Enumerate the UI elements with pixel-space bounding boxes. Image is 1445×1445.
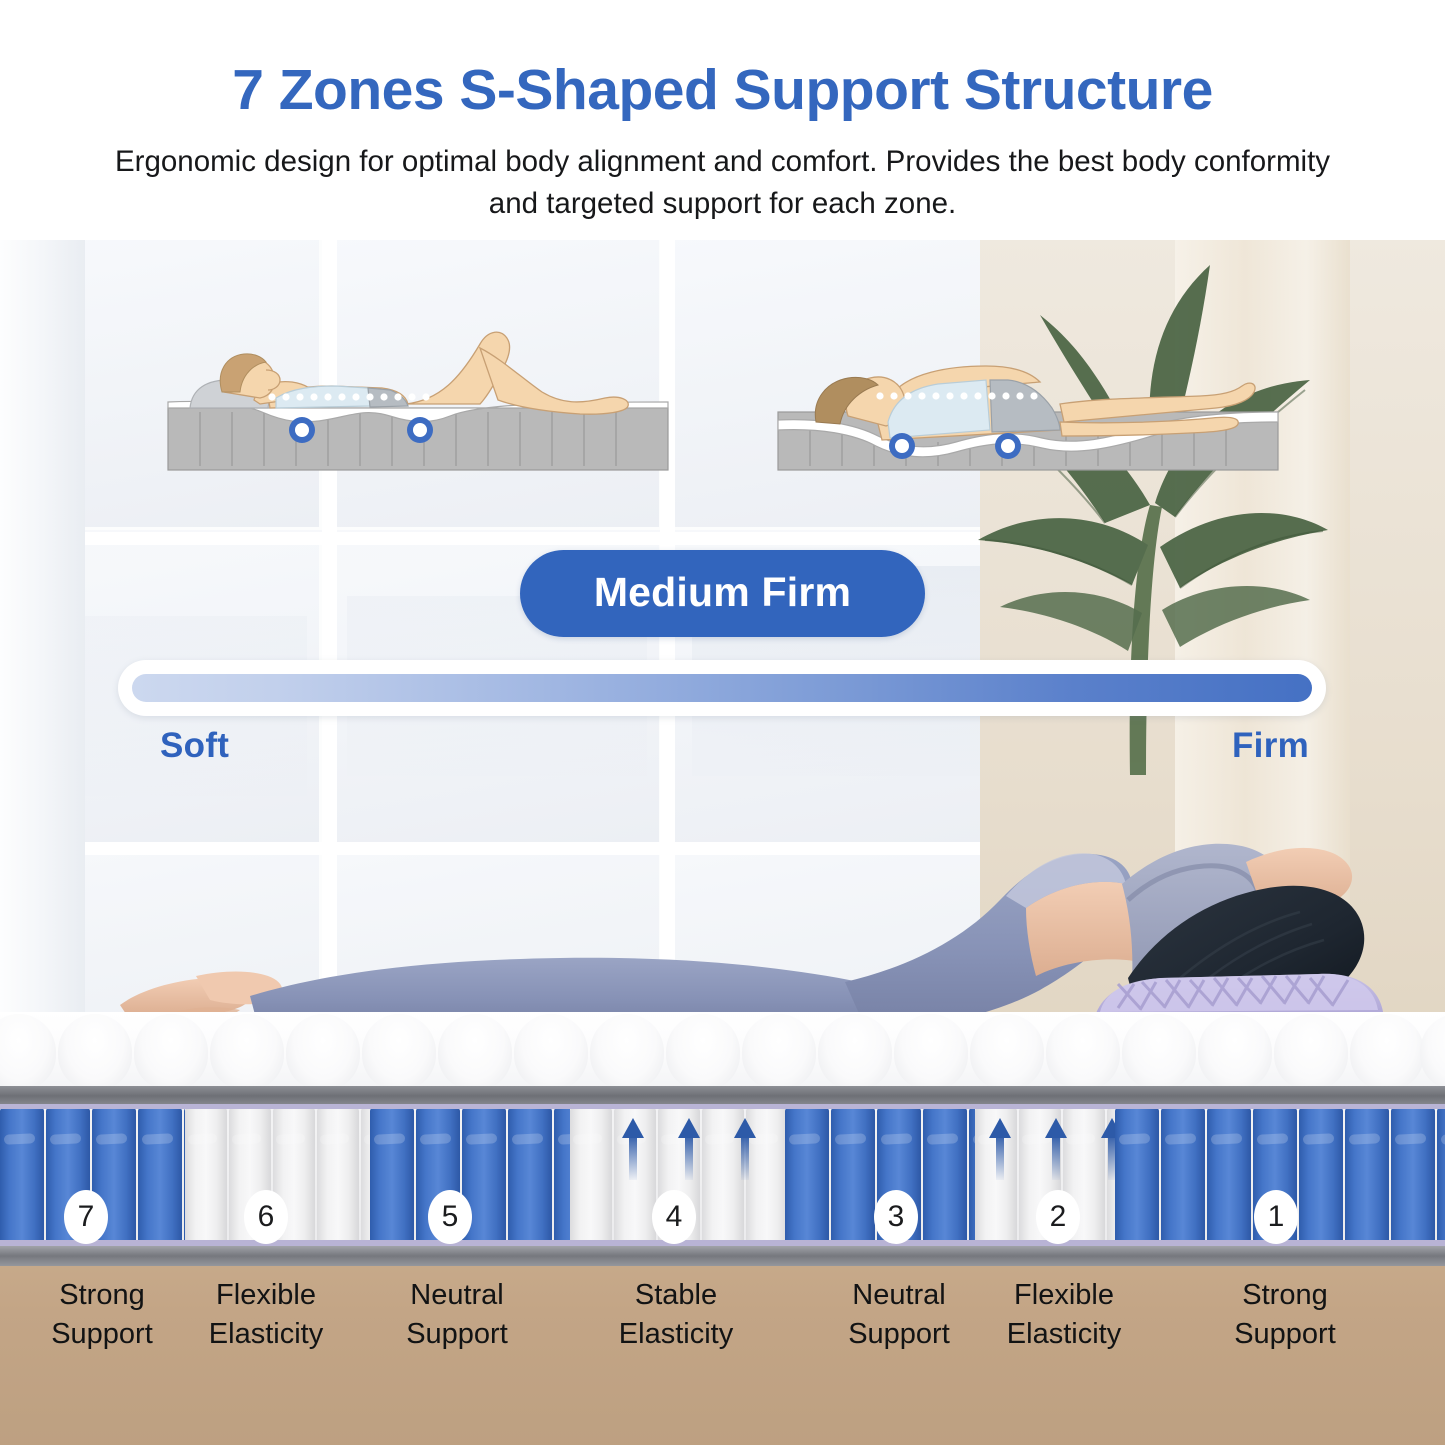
coil-sheen — [49, 1133, 80, 1145]
zone-badge-2: 2 — [1036, 1190, 1080, 1244]
zone-caption-3: NeutralSupport — [818, 1276, 980, 1353]
spring-top-trim — [0, 1104, 1445, 1109]
firmness-badge-wrapper: Medium Firm — [0, 550, 1445, 637]
coil-sheen — [1256, 1133, 1287, 1145]
firm-label: Firm — [1232, 726, 1309, 766]
coil-sheen — [557, 1133, 570, 1145]
zone-badge-3: 3 — [874, 1190, 918, 1244]
pocket-coil — [138, 1108, 182, 1250]
coil-sheen — [320, 1133, 350, 1145]
zone-caption-2: FlexibleElasticity — [978, 1276, 1150, 1353]
spring-bottom-trim — [0, 1240, 1445, 1246]
pocket-coil — [370, 1108, 414, 1250]
pocket-coil — [570, 1108, 612, 1250]
soft-label: Soft — [160, 726, 229, 766]
pocket-coil — [1161, 1108, 1205, 1250]
pocket-spring-layer — [0, 1104, 1445, 1254]
pocket-coil — [923, 1108, 967, 1250]
coil-sheen — [705, 1133, 735, 1145]
zone-badge-4: 4 — [652, 1190, 696, 1244]
coil-sheen — [1440, 1133, 1445, 1145]
coil-sheen — [511, 1133, 542, 1145]
medium-firm-badge[interactable]: Medium Firm — [520, 550, 925, 637]
back-sleeper-illustration — [150, 300, 690, 490]
coil-sheen — [419, 1133, 450, 1145]
firmness-slider[interactable] — [118, 660, 1326, 716]
zone-caption-6: FlexibleElasticity — [180, 1276, 352, 1353]
infographic-root: 7 6 5 4 3 2 1 StrongSupport FlexibleElas… — [0, 0, 1445, 1445]
coil-sheen — [232, 1133, 262, 1145]
coil-sheen — [1302, 1133, 1333, 1145]
coil-sheen — [276, 1133, 306, 1145]
coil-sheen — [1066, 1133, 1096, 1145]
pocket-coil — [185, 1108, 227, 1250]
zone-badge-7: 7 — [64, 1190, 108, 1244]
side-sleeper-illustration — [760, 300, 1300, 490]
page-subtitle: Ergonomic design for optimal body alignm… — [113, 119, 1333, 225]
coil-sheen — [95, 1133, 126, 1145]
zone-caption-7: StrongSupport — [22, 1276, 182, 1353]
quilted-top — [0, 1012, 1445, 1092]
coil-sheen — [1348, 1133, 1379, 1145]
coil-sheen — [1164, 1133, 1195, 1145]
header: 7 Zones S-Shaped Support Structure Ergon… — [0, 0, 1445, 240]
coil-sheen — [1118, 1133, 1149, 1145]
zone-caption-5: NeutralSupport — [376, 1276, 538, 1353]
coil-sheen — [1210, 1133, 1241, 1145]
zone-badge-5: 5 — [428, 1190, 472, 1244]
pocket-coil — [831, 1108, 875, 1250]
window-mullion — [42, 532, 1012, 545]
page-title: 7 Zones S-Shaped Support Structure — [0, 0, 1445, 119]
zone-caption-1: StrongSupport — [1204, 1276, 1366, 1353]
coil-sheen — [373, 1133, 404, 1145]
coil-sheen — [141, 1133, 172, 1145]
zone-badge-1: 1 — [1254, 1190, 1298, 1244]
firmness-slider-fill — [132, 674, 1312, 702]
pocket-coil — [1115, 1108, 1159, 1250]
zone-badge-6: 6 — [244, 1190, 288, 1244]
pocket-coil — [1207, 1108, 1251, 1250]
zone-captions: StrongSupport FlexibleElasticity Neutral… — [0, 1268, 1445, 1378]
coil-sheen — [188, 1133, 218, 1145]
mattress-cross-section: 7 6 5 4 3 2 1 — [0, 1012, 1445, 1262]
pocket-coil — [508, 1108, 552, 1250]
pocket-coil — [1299, 1108, 1343, 1250]
pocket-coil — [361, 1108, 370, 1250]
coil-sheen — [926, 1133, 957, 1145]
zone-caption-4: StableElasticity — [592, 1276, 760, 1353]
coil-sheen — [573, 1133, 603, 1145]
mattress-base-edge — [0, 1246, 1445, 1266]
coil-sheen — [788, 1133, 819, 1145]
pocket-coil — [317, 1108, 359, 1250]
pocket-coil — [554, 1108, 570, 1250]
zone-block-5 — [370, 1104, 570, 1254]
coil-sheen — [880, 1133, 911, 1145]
pocket-coil — [1437, 1108, 1445, 1250]
coil-sheen — [3, 1133, 34, 1145]
coil-sheen — [465, 1133, 496, 1145]
coil-sheen — [834, 1133, 865, 1145]
pocket-coil — [1345, 1108, 1389, 1250]
pocket-coil — [0, 1108, 44, 1250]
pocket-coil — [1391, 1108, 1435, 1250]
coil-sheen — [1394, 1133, 1425, 1145]
pocket-coil — [785, 1108, 829, 1250]
